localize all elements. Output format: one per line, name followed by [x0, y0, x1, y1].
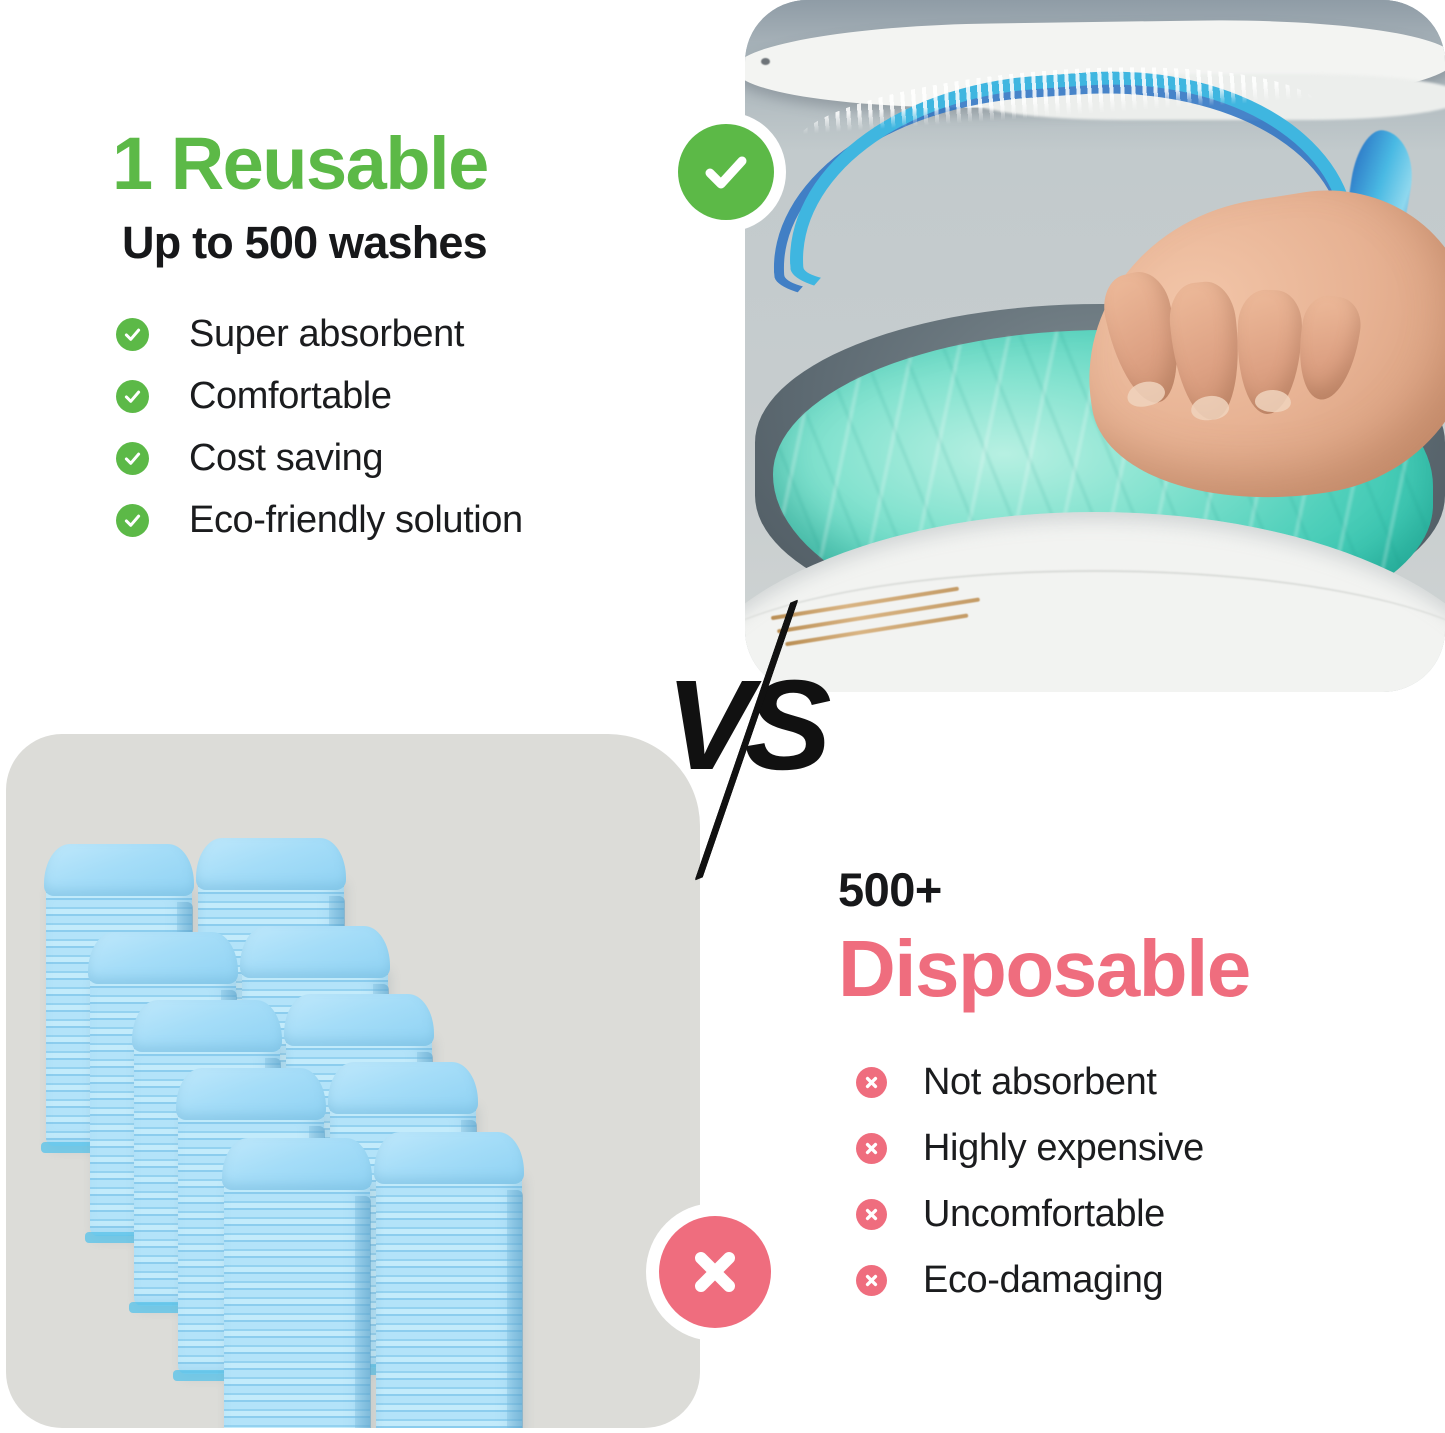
- pad-stack-top: [132, 1000, 282, 1052]
- reusable-subheading: Up to 500 washes: [122, 217, 672, 269]
- disposable-pads-photo: [6, 734, 700, 1428]
- disposable-count: 500+: [838, 862, 1398, 917]
- disposable-heading: Disposable: [838, 927, 1398, 1011]
- pad-stack-top: [222, 1138, 372, 1190]
- pad-stack-top: [374, 1132, 524, 1184]
- pad-stack-top: [240, 926, 390, 978]
- pad-stack-top: [284, 994, 434, 1046]
- check-icon: [116, 318, 149, 351]
- pad-stack-top: [88, 932, 238, 984]
- list-item-label: Highly expensive: [923, 1127, 1204, 1170]
- pad-stack-top: [44, 844, 194, 896]
- list-item: Comfortable: [116, 365, 672, 427]
- list-item: Eco-friendly solution: [116, 489, 672, 551]
- washing-machine-photo: [745, 0, 1445, 692]
- list-item-label: Comfortable: [189, 375, 392, 418]
- reusable-benefits-list: Super absorbentComfortableCost savingEco…: [116, 303, 672, 551]
- list-item-label: Eco-friendly solution: [189, 499, 523, 542]
- reusable-heading: 1 Reusable: [112, 126, 672, 201]
- check-icon: [116, 380, 149, 413]
- cross-icon: [856, 1199, 887, 1230]
- versus-label: VS: [665, 662, 823, 790]
- list-item: Cost saving: [116, 427, 672, 489]
- comparison-infographic: 1 Reusable Up to 500 washes Super absorb…: [0, 0, 1445, 1433]
- pad-stack-side: [507, 1190, 523, 1428]
- list-item: Not absorbent: [856, 1049, 1398, 1115]
- check-icon: [116, 442, 149, 475]
- list-item-label: Cost saving: [189, 437, 383, 480]
- check-circle-icon: [678, 124, 774, 220]
- list-item: Super absorbent: [116, 303, 672, 365]
- list-item-label: Eco-damaging: [923, 1259, 1163, 1302]
- list-item: Highly expensive: [856, 1115, 1398, 1181]
- pad-stacks-group: [6, 734, 700, 1428]
- pad-stack-body: [224, 1178, 370, 1428]
- list-item: Uncomfortable: [856, 1181, 1398, 1247]
- disposable-drawbacks-list: Not absorbentHighly expensiveUncomfortab…: [856, 1049, 1398, 1313]
- pad-stack-top: [176, 1068, 326, 1120]
- cross-icon: [856, 1067, 887, 1098]
- list-item-label: Super absorbent: [189, 313, 464, 356]
- disposable-section: 500+ Disposable Not absorbentHighly expe…: [838, 862, 1398, 1313]
- reusable-section: 1 Reusable Up to 500 washes Super absorb…: [112, 126, 672, 551]
- versus-divider: VS: [655, 600, 855, 890]
- list-item-label: Uncomfortable: [923, 1193, 1165, 1236]
- cross-icon: [856, 1265, 887, 1296]
- pad-stack-side: [355, 1196, 371, 1428]
- pad-stack-top: [328, 1062, 478, 1114]
- pad-stack-top: [196, 838, 346, 890]
- cross-circle-icon: [659, 1216, 771, 1328]
- list-item: Eco-damaging: [856, 1247, 1398, 1313]
- machine-lid-screw: [761, 58, 770, 65]
- check-icon: [116, 504, 149, 537]
- cross-icon: [856, 1133, 887, 1164]
- pad-stack-body: [376, 1172, 522, 1428]
- list-item-label: Not absorbent: [923, 1061, 1157, 1104]
